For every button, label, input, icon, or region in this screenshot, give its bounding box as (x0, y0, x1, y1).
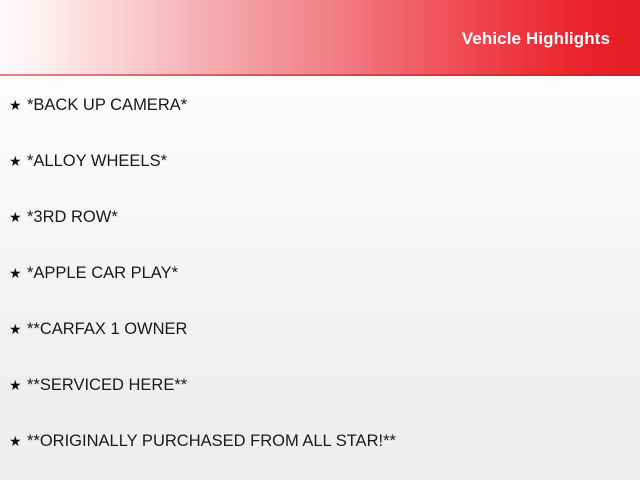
list-item: ★ **SERVICED HERE** (0, 376, 640, 432)
list-item: ★ *ALLOY WHEELS* (0, 152, 640, 208)
list-item: ★ *APPLE CAR PLAY* (0, 264, 640, 320)
star-icon: ★ (9, 320, 27, 339)
highlight-label: **ORIGINALLY PURCHASED FROM ALL STAR!** (27, 432, 396, 451)
vehicle-highlights-page: Vehicle Highlights ★ *BACK UP CAMERA* ★ … (0, 0, 640, 480)
highlight-label: *3RD ROW* (27, 208, 118, 227)
page-title: Vehicle Highlights (462, 30, 610, 48)
highlight-label: **CARFAX 1 OWNER (27, 320, 187, 339)
list-item: ★ *BACK UP CAMERA* (0, 76, 640, 152)
star-icon: ★ (9, 376, 27, 395)
highlight-label: *BACK UP CAMERA* (27, 96, 187, 115)
star-icon: ★ (9, 96, 27, 115)
star-icon: ★ (9, 152, 27, 171)
highlights-list: ★ *BACK UP CAMERA* ★ *ALLOY WHEELS* ★ *3… (0, 76, 640, 488)
star-icon: ★ (9, 208, 27, 227)
highlight-label: *APPLE CAR PLAY* (27, 264, 178, 283)
header-banner: Vehicle Highlights (0, 0, 640, 76)
star-icon: ★ (9, 432, 27, 451)
list-item: ★ **CARFAX 1 OWNER (0, 320, 640, 376)
list-item: ★ *3RD ROW* (0, 208, 640, 264)
highlight-label: **SERVICED HERE** (27, 376, 187, 395)
star-icon: ★ (9, 264, 27, 283)
highlight-label: *ALLOY WHEELS* (27, 152, 167, 171)
